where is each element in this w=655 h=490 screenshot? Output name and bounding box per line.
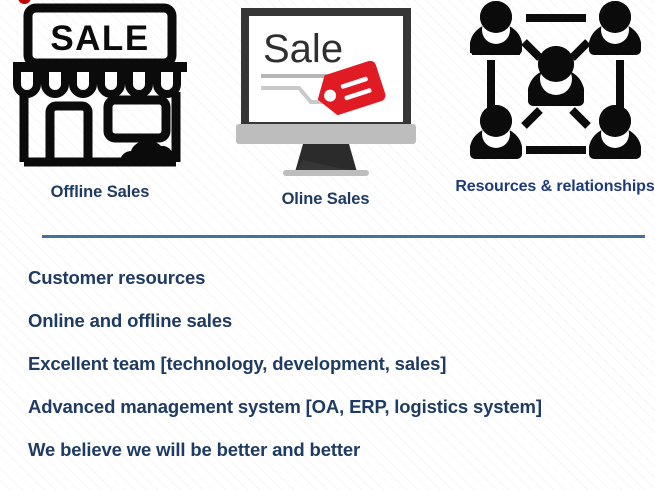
slide-canvas: SALE (0, 0, 655, 490)
card-resources-relationships[interactable]: Resources & relationships (455, 0, 655, 170)
monitor-sale-tag-icon: Sale (231, 0, 421, 180)
list-item: We believe we will be better and better (28, 439, 648, 461)
list-item: Excellent team [technology, development,… (28, 353, 648, 375)
card-label-online-sales: Oline Sales (218, 190, 433, 209)
storefront-sale-icon: SALE (10, 0, 190, 175)
card-online-sales[interactable]: Sale Oline Sales (218, 0, 433, 180)
people-network-icon (468, 0, 643, 170)
horizontal-divider (42, 235, 645, 238)
list-item: Online and offline sales (28, 310, 648, 332)
list-item: Advanced management system [OA, ERP, log… (28, 396, 648, 418)
monitor-sale-text: Sale (263, 27, 343, 71)
icon-card-row: SALE (0, 0, 655, 228)
list-item: Customer resources (28, 267, 648, 289)
card-label-resources-relationships: Resources & relationships (455, 177, 655, 196)
storefront-sale-text: SALE (50, 19, 149, 58)
bullet-list: Customer resources Online and offline sa… (28, 267, 648, 461)
card-label-offline-sales: Offline Sales (0, 183, 200, 202)
card-offline-sales[interactable]: SALE (0, 0, 200, 175)
